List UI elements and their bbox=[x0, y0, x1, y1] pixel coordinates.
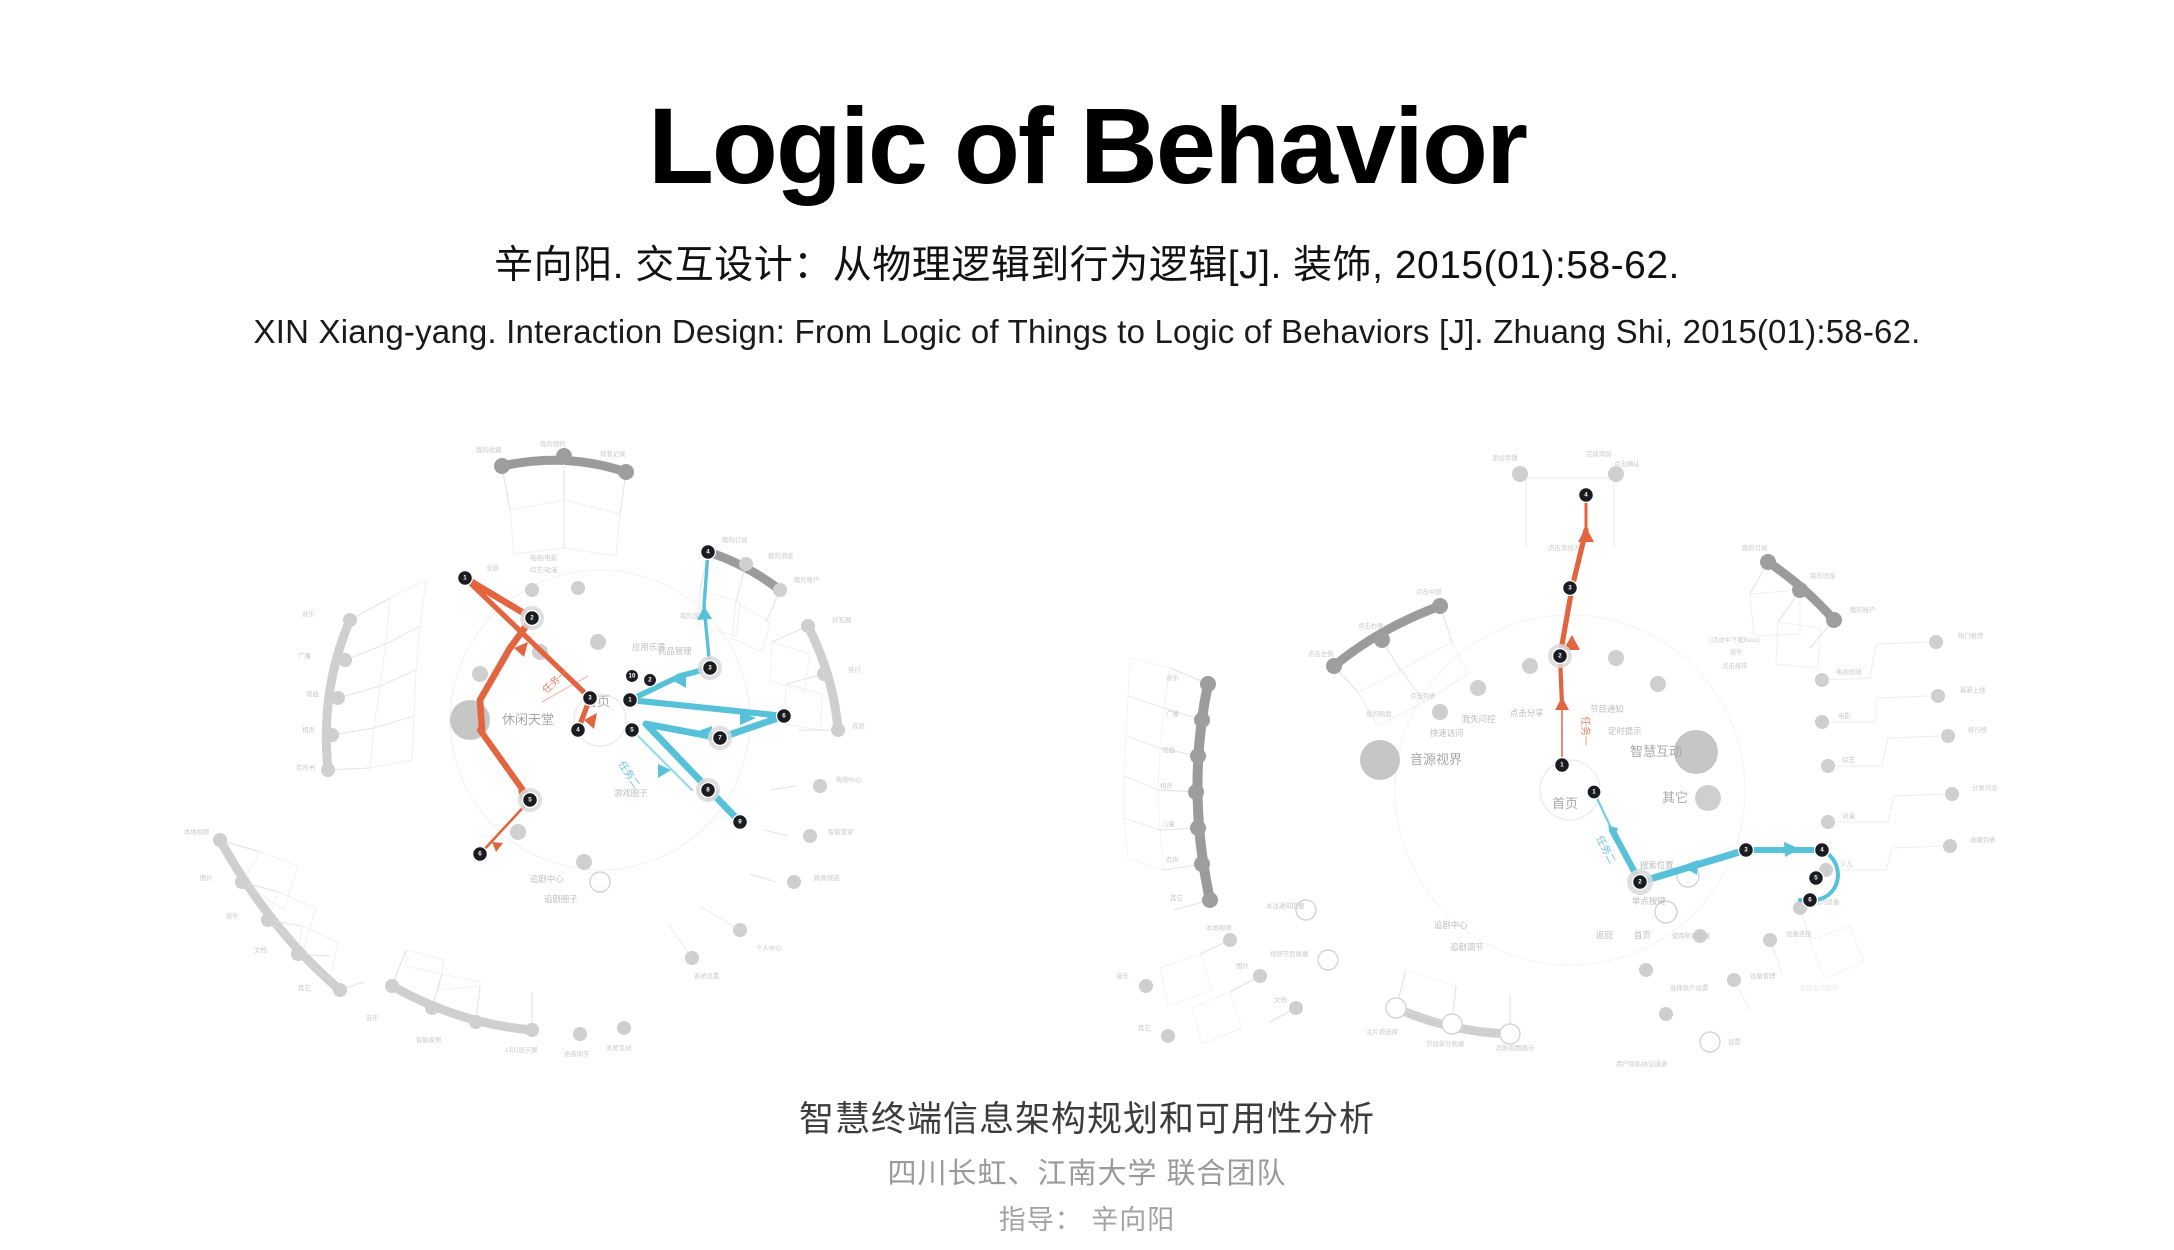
svg-text:图片: 图片 bbox=[1236, 961, 1249, 970]
right-tree-west-chain: 音乐 广播 戏曲 相声 儿童 有声 其它 bbox=[1124, 658, 1218, 910]
svg-text:好友圈: 好友圈 bbox=[832, 615, 851, 624]
citation-chinese: 辛向阳. 交互设计：从物理逻辑到行为逻辑[J]. 装饰, 2015(01):58… bbox=[0, 205, 2174, 292]
svg-text:有声书: 有声书 bbox=[296, 763, 316, 772]
svg-text:1: 1 bbox=[463, 575, 467, 582]
svg-text:9: 9 bbox=[738, 819, 742, 826]
svg-text:排行: 排行 bbox=[848, 665, 861, 674]
svg-text:点击右侧: 点击右侧 bbox=[1358, 621, 1384, 630]
svg-text:设置: 设置 bbox=[1728, 1037, 1741, 1046]
svg-text:热门推荐: 热门推荐 bbox=[1958, 631, 1984, 640]
svg-text:我的消息: 我的消息 bbox=[768, 551, 794, 560]
step-node: 3 bbox=[1739, 843, 1754, 858]
svg-text:全部: 全部 bbox=[486, 563, 499, 572]
left-tree-southwest: 本地视频 图片 音乐 文档 其它 bbox=[184, 827, 364, 997]
project-title: 智慧终端信息架构规划和可用性分析 bbox=[0, 1098, 2174, 1142]
svg-text:1: 1 bbox=[1560, 762, 1564, 769]
svg-text:3: 3 bbox=[708, 665, 712, 672]
right-task-one-path: 任务一 bbox=[1555, 495, 1594, 765]
svg-text:视频节目展播: 视频节目展播 bbox=[1270, 949, 1309, 958]
svg-text:我的消息: 我的消息 bbox=[1810, 571, 1836, 580]
svg-text:我的订阅: 我的订阅 bbox=[722, 535, 748, 544]
citation-english: XIN Xiang-yang. Interaction Design: From… bbox=[0, 291, 2174, 354]
left-tree-west: 音乐 广播 戏曲 相声 有声书 bbox=[296, 580, 426, 777]
step-node: 3 bbox=[583, 691, 598, 706]
svg-text:文档: 文档 bbox=[254, 945, 267, 954]
svg-text:5: 5 bbox=[630, 727, 634, 734]
svg-text:综艺/动漫: 综艺/动漫 bbox=[530, 565, 558, 574]
svg-text:电视/电影: 电视/电影 bbox=[530, 553, 558, 562]
left-tree-southeast: 购物中心 智能管家 教育频道 个人中心 系统设置 bbox=[668, 775, 862, 980]
svg-text:其它: 其它 bbox=[298, 983, 311, 992]
step-node: 9 bbox=[733, 815, 748, 830]
svg-text:我的账户: 我的账户 bbox=[794, 575, 820, 584]
hub-label-primary: 休闲天堂 bbox=[502, 712, 554, 727]
svg-text:5: 5 bbox=[528, 797, 532, 804]
svg-text:5: 5 bbox=[1814, 875, 1818, 882]
svg-text:[活动中下载Bacc]: [活动中下载Bacc] bbox=[1710, 635, 1760, 644]
right-center-label: 首页 bbox=[1552, 796, 1578, 811]
step-node: 7 bbox=[708, 726, 732, 750]
svg-text:主片源选择: 主片源选择 bbox=[1366, 1027, 1399, 1036]
step-node: 4 bbox=[571, 723, 586, 738]
left-diagram-container: 休闲天堂 首页 音乐 广播 bbox=[180, 430, 940, 1090]
hub-label-audio: 音源视界 bbox=[1410, 752, 1462, 767]
svg-text:3: 3 bbox=[1568, 585, 1572, 592]
svg-text:点击列表: 点击列表 bbox=[1410, 691, 1436, 700]
step-node: 1 bbox=[1587, 785, 1601, 799]
svg-text:完成添加: 完成添加 bbox=[1586, 449, 1612, 458]
svg-text:6: 6 bbox=[478, 851, 482, 858]
svg-text:4: 4 bbox=[576, 727, 580, 734]
project-advisor: 指导： 辛向阳 bbox=[0, 1192, 2174, 1238]
right-inner-ring bbox=[1395, 615, 1745, 965]
step-node: 4 bbox=[701, 545, 716, 560]
svg-text:我失问控: 我失问控 bbox=[1462, 714, 1496, 724]
hub-label-other: 其它 bbox=[1662, 790, 1688, 805]
svg-text:音乐: 音乐 bbox=[226, 911, 239, 920]
right-tree-south: 主片源选择 节目单外观展 追剧视图展示 视频节目展播 关注通知提醒 追剧中心 追… bbox=[1266, 900, 1535, 1052]
svg-text:我的账户: 我的账户 bbox=[1850, 605, 1876, 614]
svg-text:多屏互动: 多屏互动 bbox=[606, 1043, 632, 1052]
svg-text:系统设置: 系统设置 bbox=[694, 971, 720, 980]
svg-text:智能管家: 智能管家 bbox=[828, 827, 854, 836]
svg-text:点击中部: 点击中部 bbox=[1416, 587, 1442, 596]
svg-text:4: 4 bbox=[706, 549, 710, 556]
hub-label-smart: 智慧互动 bbox=[1630, 744, 1682, 759]
step-node: 1 bbox=[458, 571, 473, 586]
svg-text:追剧中心: 追剧中心 bbox=[1434, 920, 1468, 930]
right-diagram-container: 音源视界 智慧互动 其它 首页 点击左侧 点击右侧 bbox=[1110, 430, 2010, 1090]
step-node: 3 bbox=[698, 656, 722, 680]
svg-text:2: 2 bbox=[1558, 653, 1562, 660]
svg-text:选择账户设置: 选择账户设置 bbox=[1670, 983, 1709, 992]
svg-text:音乐: 音乐 bbox=[302, 609, 315, 618]
right-task-one-label: 任务一 bbox=[1579, 716, 1592, 746]
svg-text:儿童: 儿童 bbox=[1162, 819, 1175, 828]
svg-text:点击添加人: 点击添加人 bbox=[1548, 543, 1581, 552]
svg-text:3: 3 bbox=[1744, 847, 1748, 854]
svg-text:2: 2 bbox=[1638, 879, 1642, 886]
step-node: 2 bbox=[1548, 644, 1572, 668]
svg-text:我的收藏: 我的收藏 bbox=[476, 445, 502, 454]
svg-text:首页: 首页 bbox=[1634, 930, 1651, 940]
svg-text:戏曲: 戏曲 bbox=[1162, 745, 1175, 754]
step-node: 2 bbox=[520, 606, 544, 630]
svg-text:追剧中心: 追剧中心 bbox=[530, 874, 564, 884]
svg-text:8: 8 bbox=[706, 787, 710, 794]
svg-text:点击左侧: 点击左侧 bbox=[1308, 649, 1334, 658]
svg-text:本地视频: 本地视频 bbox=[184, 827, 210, 836]
right-mid-nodes: 快速访问 我失问控 点击分享 节目通知 定时提示 搜索位置 单点按键 返回 首页 bbox=[1430, 650, 1699, 940]
step-node: 4 bbox=[1579, 488, 1594, 503]
faint-watermark: 智能生活助手 bbox=[1800, 983, 1839, 992]
svg-text:文档: 文档 bbox=[1274, 995, 1287, 1004]
step-node: 5 bbox=[518, 788, 542, 812]
left-task-one-label: 任务一 bbox=[539, 666, 570, 696]
svg-text:2: 2 bbox=[530, 615, 534, 622]
svg-text:相声: 相声 bbox=[302, 725, 315, 734]
svg-text:追剧圈子: 追剧圈子 bbox=[544, 894, 578, 904]
svg-text:点击确认: 点击确认 bbox=[1614, 459, 1640, 468]
svg-text:分类浏览: 分类浏览 bbox=[1972, 783, 1998, 792]
svg-text:点击分享: 点击分享 bbox=[1510, 708, 1544, 718]
svg-text:6: 6 bbox=[782, 713, 786, 720]
svg-text:音乐: 音乐 bbox=[366, 1013, 379, 1022]
svg-text:7: 7 bbox=[718, 735, 722, 742]
left-tree-north: 我的收藏 我的预约 观看记录 电视/电影 综艺/动漫 全部 bbox=[476, 439, 634, 597]
step-node: 1 bbox=[1555, 758, 1570, 773]
svg-text:快速访问: 快速访问 bbox=[1430, 728, 1464, 738]
svg-text:4: 4 bbox=[1820, 847, 1824, 854]
svg-text:3: 3 bbox=[588, 695, 592, 702]
step-node: 6 bbox=[777, 709, 792, 724]
slide-root: Logic of Behavior 辛向阳. 交互设计：从物理逻辑到行为逻辑[J… bbox=[0, 0, 2174, 1250]
right-tree-north: 添加专辑 完成添加 点击确认 点击添加人 bbox=[1492, 449, 1640, 552]
svg-text:其它: 其它 bbox=[1138, 1023, 1151, 1032]
svg-text:音乐: 音乐 bbox=[1166, 673, 1179, 682]
svg-text:商品管理: 商品管理 bbox=[658, 646, 692, 656]
svg-text:我的预约: 我的预约 bbox=[540, 439, 566, 448]
svg-text:用户隐私协议通道: 用户隐私协议通道 bbox=[1616, 1059, 1668, 1068]
svg-text:音乐: 音乐 bbox=[1116, 971, 1129, 980]
svg-text:广播: 广播 bbox=[298, 651, 311, 660]
svg-text:语音助手: 语音助手 bbox=[564, 1049, 590, 1058]
svg-text:设备管理: 设备管理 bbox=[1750, 971, 1776, 980]
svg-text:排行榜: 排行榜 bbox=[1968, 725, 1988, 734]
svg-text:游戏圈子: 游戏圈子 bbox=[614, 788, 648, 798]
svg-text:搜索位置: 搜索位置 bbox=[1640, 860, 1674, 870]
svg-text:教育频道: 教育频道 bbox=[814, 873, 840, 882]
right-tree-east: 电视剧场 电影 综艺 动漫 少儿 热门推荐 最新上线 排行榜 分类浏览 收藏列表… bbox=[1710, 631, 1998, 877]
svg-text:音乐: 音乐 bbox=[1730, 647, 1743, 656]
svg-text:节目单外观展: 节目单外观展 bbox=[1426, 1039, 1465, 1048]
step-node: 10 bbox=[625, 669, 638, 682]
right-tree-southeast: 我的设备 设备连接 设备管理 选择账户设置 设置 使用帮助记录 用户隐私协议通道 bbox=[1616, 897, 1864, 1068]
svg-text:戏曲: 戏曲 bbox=[306, 689, 319, 698]
project-team: 四川长虹、江南大学 联合团队 bbox=[0, 1142, 2174, 1192]
svg-text:1: 1 bbox=[628, 697, 632, 704]
svg-text:电视剧场: 电视剧场 bbox=[1836, 667, 1862, 676]
hub-node-other bbox=[1695, 785, 1721, 811]
step-node: 2 bbox=[643, 673, 656, 686]
page-title: Logic of Behavior bbox=[0, 0, 2174, 205]
svg-text:个人中心: 个人中心 bbox=[756, 943, 782, 952]
step-node: 1 bbox=[623, 693, 638, 708]
svg-text:单点按键: 单点按键 bbox=[1632, 896, 1666, 906]
svg-text:购物中心: 购物中心 bbox=[836, 775, 862, 784]
step-node: 8 bbox=[696, 778, 720, 802]
svg-text:智能家居: 智能家居 bbox=[416, 1035, 442, 1044]
svg-text:节目通知: 节目通知 bbox=[1590, 704, 1624, 714]
left-tree-south: 音乐 智能家居 LED显示屏 语音助手 多屏互动 bbox=[366, 950, 632, 1058]
footer-block: 智慧终端信息架构规划和可用性分析 四川长虹、江南大学 联合团队 指导： 辛向阳 bbox=[0, 1098, 2174, 1238]
left-task-two-label: 任务二 bbox=[616, 758, 644, 790]
right-tree-northeast: 我的订阅 我的消息 我的账户 点击排序 bbox=[1722, 543, 1876, 670]
svg-text:动漫: 动漫 bbox=[1842, 811, 1855, 820]
svg-text:返回: 返回 bbox=[1596, 930, 1613, 940]
svg-text:有声: 有声 bbox=[1166, 855, 1179, 864]
svg-text:追剧视图展示: 追剧视图展示 bbox=[1496, 1043, 1535, 1052]
step-node: 5 bbox=[625, 723, 640, 738]
svg-text:我的网盘: 我的网盘 bbox=[1366, 709, 1392, 718]
svg-text:我的订阅: 我的订阅 bbox=[1742, 543, 1768, 552]
svg-text:点击排序: 点击排序 bbox=[1722, 661, 1748, 670]
step-node: 4 bbox=[1815, 843, 1830, 858]
svg-text:广播: 广播 bbox=[1166, 709, 1179, 718]
svg-text:最新上线: 最新上线 bbox=[1960, 685, 1986, 694]
svg-text:关注通知提醒: 关注通知提醒 bbox=[1266, 901, 1305, 910]
svg-text:2: 2 bbox=[648, 677, 652, 684]
svg-text:图片: 图片 bbox=[200, 873, 213, 882]
svg-text:相声: 相声 bbox=[1160, 781, 1173, 790]
svg-text:1: 1 bbox=[1592, 789, 1596, 796]
svg-text:10: 10 bbox=[629, 673, 636, 680]
svg-text:设备连接: 设备连接 bbox=[1786, 929, 1812, 938]
svg-text:使用帮助记录: 使用帮助记录 bbox=[1672, 931, 1711, 940]
svg-text:综艺: 综艺 bbox=[1842, 755, 1855, 764]
svg-text:定时提示: 定时提示 bbox=[1608, 726, 1642, 736]
figures-area: 休闲天堂 首页 音乐 广播 bbox=[0, 430, 2174, 1090]
svg-text:追剧调节: 追剧调节 bbox=[1450, 942, 1484, 952]
svg-text:其它: 其它 bbox=[1170, 893, 1183, 902]
svg-text:成就: 成就 bbox=[852, 721, 865, 730]
svg-text:观看记录: 观看记录 bbox=[600, 450, 626, 458]
svg-text:少儿: 少儿 bbox=[1840, 860, 1853, 868]
svg-text:本地视频: 本地视频 bbox=[1206, 923, 1232, 932]
left-radial-diagram: 休闲天堂 首页 音乐 广播 bbox=[180, 430, 940, 1090]
step-node: 6 bbox=[1803, 893, 1818, 908]
svg-text:4: 4 bbox=[1584, 492, 1588, 499]
svg-text:收藏列表: 收藏列表 bbox=[1970, 835, 1996, 844]
step-node: 5 bbox=[1809, 871, 1824, 886]
svg-text:6: 6 bbox=[1808, 897, 1812, 904]
svg-text:添加专辑: 添加专辑 bbox=[1492, 453, 1518, 462]
hub-node-audio bbox=[1360, 740, 1400, 780]
right-radial-diagram: 音源视界 智慧互动 其它 首页 点击左侧 点击右侧 bbox=[1110, 430, 2010, 1090]
svg-text:电影: 电影 bbox=[1838, 711, 1851, 720]
header-block: Logic of Behavior 辛向阳. 交互设计：从物理逻辑到行为逻辑[J… bbox=[0, 0, 2174, 354]
right-tree-southwest: 本地视频 图片 文档 音乐 其它 bbox=[1116, 923, 1303, 1044]
step-node: 3 bbox=[1563, 581, 1578, 596]
step-node: 6 bbox=[473, 847, 488, 862]
svg-text:LED显示屏: LED显示屏 bbox=[506, 1046, 538, 1054]
step-node: 2 bbox=[1627, 869, 1653, 895]
